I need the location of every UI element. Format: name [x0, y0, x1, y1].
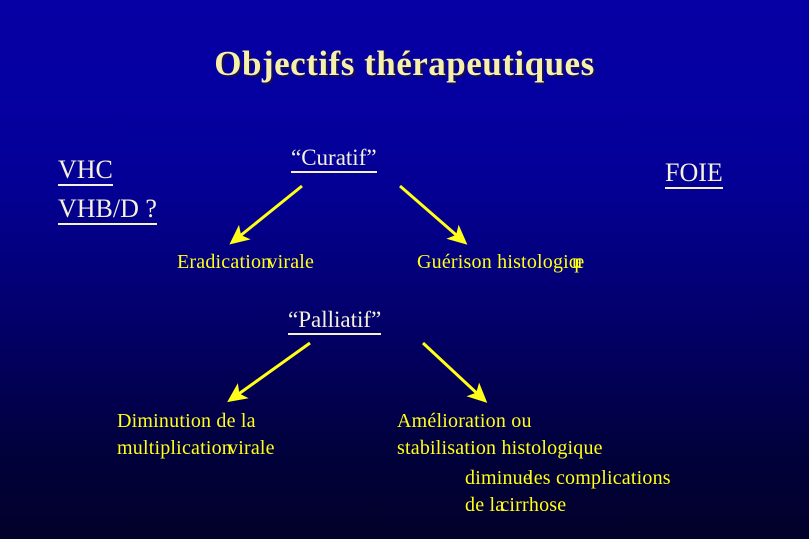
label-palliatif: “Palliatif”	[288, 308, 381, 335]
text-complications-word2: les complications	[528, 467, 671, 489]
text-complications-line2: de lacirrhose	[465, 492, 671, 519]
page-title: Objectifs thérapeutiques	[0, 44, 809, 84]
palliatif-to-amelioration-arrow	[423, 343, 482, 398]
label-curatif: “Curatif”	[291, 146, 377, 173]
text-eradication-word1: Eradication	[177, 251, 271, 273]
slide-canvas: Objectifs thérapeutiques VHC VHB/D ? FOI…	[0, 0, 809, 539]
text-diminution-word2: virale	[228, 437, 275, 459]
text-diminution-line1: Diminution de la	[117, 408, 275, 435]
text-complications-word1: diminue	[465, 467, 532, 489]
text-amelioration-stabilisation: Amélioration ou stabilisation histologiq…	[397, 408, 603, 462]
curatif-to-eradication-arrow	[235, 186, 302, 240]
text-amelioration-line2: stabilisation histologique	[397, 435, 603, 462]
text-eradication-word2: virale	[267, 251, 314, 273]
text-amelioration-line1: Amélioration ou	[397, 408, 603, 435]
curatif-to-guerison-arrow	[400, 186, 462, 240]
text-complications-cirrhose: diminueles complications de lacirrhose	[465, 465, 671, 519]
text-guerison-word3: e	[575, 251, 584, 273]
text-guerison-word1: Guérison histologiq	[417, 251, 579, 273]
label-palliatif-text: “Palliatif”	[288, 308, 381, 335]
label-foie: FOIE	[665, 159, 723, 189]
text-diminution-multiplication: Diminution de la multiplicationvirale	[117, 408, 275, 462]
label-vhc-text: VHC	[58, 156, 113, 186]
label-foie-text: FOIE	[665, 159, 723, 189]
text-diminution-line2: multiplicationvirale	[117, 435, 275, 462]
text-eradication-virale: Eradicationvirale	[177, 249, 314, 276]
text-diminution-word1: multiplication	[117, 437, 232, 459]
label-vhc: VHC	[58, 156, 113, 186]
label-curatif-text: “Curatif”	[291, 146, 377, 173]
text-cirrhose-word1: de la	[465, 494, 504, 516]
label-vhbd-text: VHB/D ?	[58, 195, 157, 225]
palliatif-to-diminution-arrow	[233, 343, 310, 398]
text-complications-line1: diminueles complications	[465, 465, 671, 492]
text-guerison-histologique: Guérison histologique	[417, 249, 584, 276]
label-vhbd: VHB/D ?	[58, 195, 157, 225]
text-cirrhose-word2: cirrhose	[500, 494, 566, 516]
